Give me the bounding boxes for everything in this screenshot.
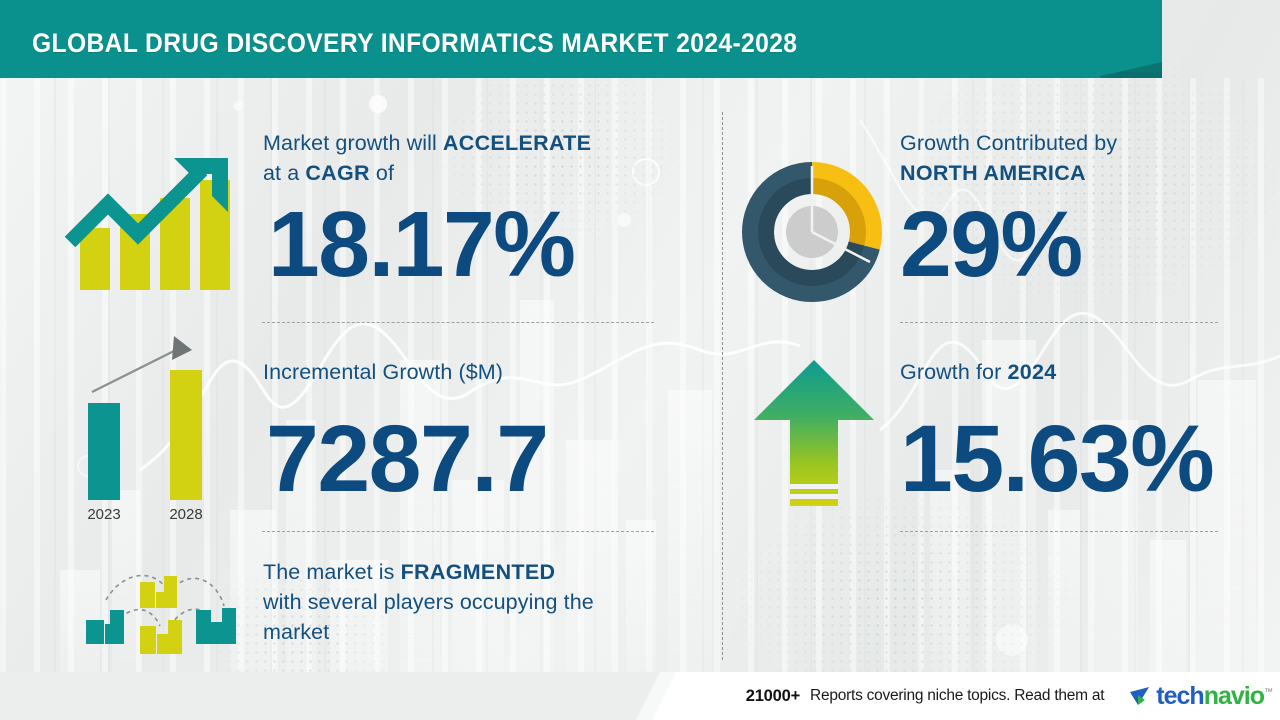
region-caption: Growth Contributed by NORTH AMERICA [900,128,1240,188]
incremental-growth-value: 7287.7 [266,412,548,507]
donut-chart-icon [742,162,882,302]
fragmented-caption: The market is FRAGMENTED with several pl… [263,557,683,647]
vertical-divider [722,112,723,660]
fragmented-caption-plain-1: The market is [263,560,401,584]
cagr-caption-plain-1: Market growth will [263,131,443,155]
connected-city-clusters-icon [78,558,243,654]
fragmented-caption-line-2: with several players occupying the [263,587,683,617]
cagr-caption-bold-accelerate: ACCELERATE [443,131,591,155]
region-caption-bold: NORTH AMERICA [900,161,1086,185]
cagr-caption-bold-cagr: CAGR [305,161,370,185]
svg-text:2023: 2023 [87,506,120,520]
cagr-caption: Market growth will ACCELERATE at a CAGR … [263,128,683,188]
two-bar-comparison-chart-icon: 2023 2028 [62,330,247,520]
technavio-logo-text-navio: navio [1204,682,1264,710]
technavio-logo-text-tech: tech [1156,682,1203,710]
page-title: GLOBAL DRUG DISCOVERY INFORMATICS MARKET… [32,28,1018,59]
footer-bar: 21000+ Reports covering niche topics. Re… [0,672,1280,720]
header-banner: GLOBAL DRUG DISCOVERY INFORMATICS MARKET… [0,0,1280,108]
svg-text:2028: 2028 [169,506,202,520]
divider-left-upper [262,322,654,323]
fragmented-caption-line-3: market [263,617,683,647]
region-value: 29% [900,198,1082,291]
technavio-logo-mark-icon [1128,683,1154,709]
year-growth-caption-bold: 2024 [1007,360,1056,384]
report-count: 21000+ [746,687,800,706]
divider-right-lower [900,531,1218,532]
fragmented-caption-bold: FRAGMENTED [401,560,556,584]
divider-right-upper [900,322,1218,323]
footer-content: 21000+ Reports covering niche topics. Re… [746,672,1272,720]
year-growth-value: 15.63% [900,412,1213,507]
growth-arrow-bar-chart-icon [62,150,247,300]
technavio-logo[interactable]: technavio™ [1128,682,1272,711]
divider-left-lower [262,531,654,532]
footer-tagline: Reports covering niche topics. Read them… [810,687,1104,705]
region-caption-line-1: Growth Contributed by [900,128,1240,158]
year-growth-caption-plain: Growth for [900,360,1007,384]
infographic-root: GLOBAL DRUG DISCOVERY INFORMATICS MARKET… [0,0,1280,720]
up-arrow-gradient-icon [752,358,876,510]
year-growth-caption: Growth for 2024 [900,357,1240,387]
incremental-growth-caption: Incremental Growth ($M) [263,357,683,387]
cagr-caption-plain-2a: at a [263,161,305,185]
trademark-symbol: ™ [1264,686,1272,696]
cagr-caption-plain-2b: of [370,161,394,185]
cagr-value: 18.17% [268,198,574,291]
